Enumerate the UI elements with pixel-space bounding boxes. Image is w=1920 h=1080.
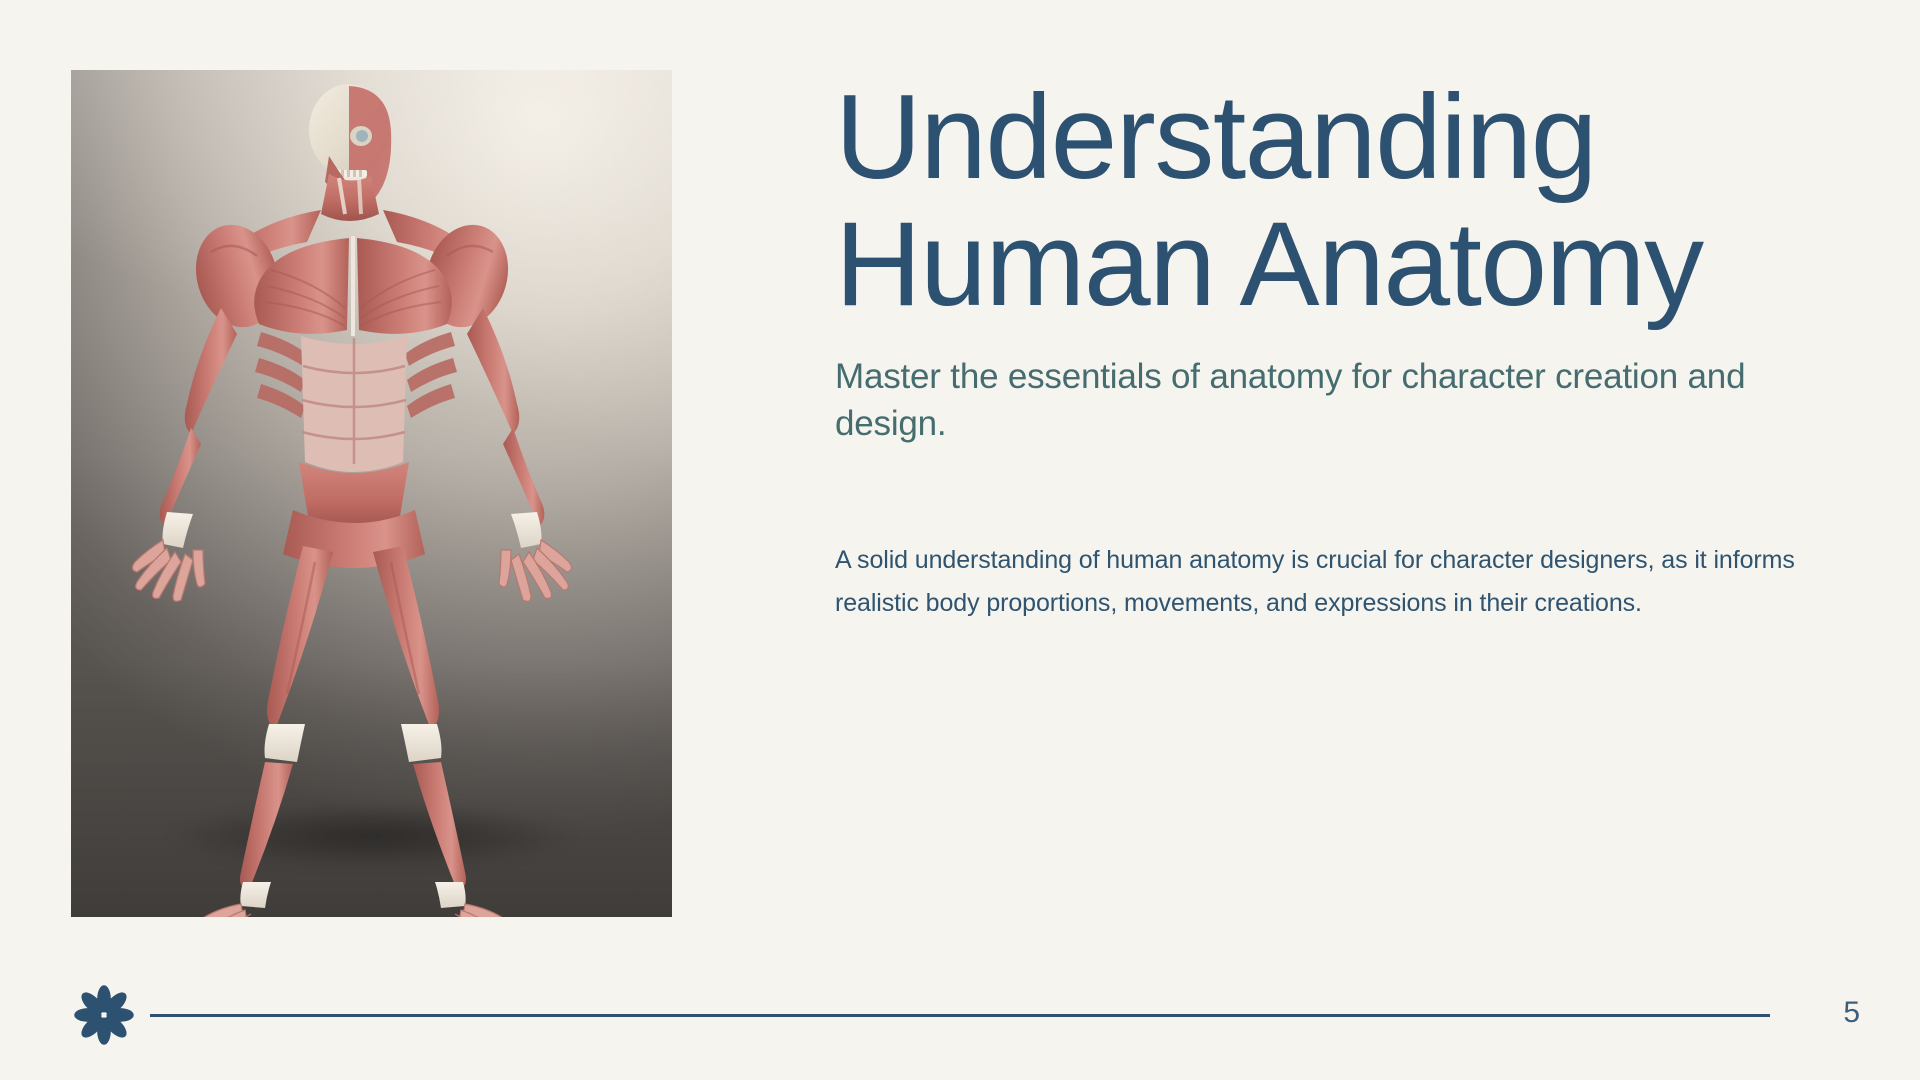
slide-subtitle: Master the essentials of anatomy for cha… <box>835 354 1847 447</box>
slide-title: Understanding Human Anatomy <box>835 74 1847 328</box>
eight-petal-flower-icon <box>73 984 135 1046</box>
anatomy-image-panel <box>71 70 672 917</box>
anatomy-illustration <box>71 70 672 917</box>
footer-divider <box>150 1014 1770 1017</box>
slide-body-text: A solid understanding of human anatomy i… <box>835 539 1847 625</box>
slide-content: Understanding Human Anatomy Master the e… <box>835 74 1847 625</box>
page-number: 5 <box>1822 996 1882 1030</box>
slide-footer: 5 <box>0 950 1920 1080</box>
